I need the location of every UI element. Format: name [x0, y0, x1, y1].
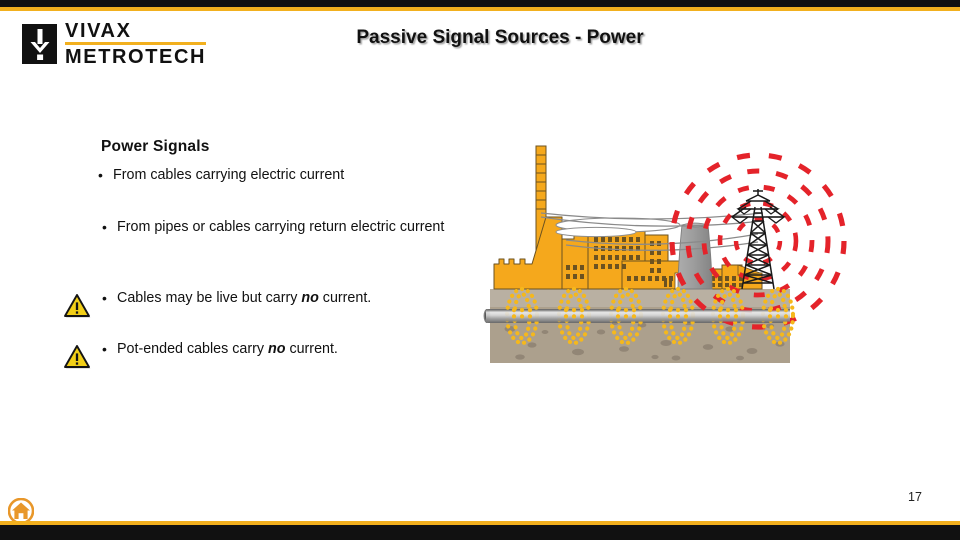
bottom-black-bar [0, 525, 960, 540]
top-accent-line [0, 7, 960, 11]
logo-mark [22, 24, 57, 64]
bullet-text: From pipes or cables carrying return ele… [117, 218, 452, 237]
bullet-marker: • [102, 289, 117, 308]
bullet-text-pre: Cables may be live but carry [117, 290, 301, 306]
power-station [494, 146, 762, 289]
top-black-bar [0, 0, 960, 7]
bullet-text-post: current. [319, 290, 371, 306]
bullet-marker: • [102, 340, 117, 359]
canopy-lower [556, 227, 636, 236]
slide-root: VIVAX METROTECH Passive Signal Sources -… [0, 0, 960, 540]
bullet-text-emphasis: no [301, 290, 318, 306]
page-title: Passive Signal Sources - Power [310, 27, 690, 49]
bullet-marker: • [98, 166, 113, 185]
bullet-text: Pot-ended cables carry no current. [117, 340, 452, 359]
list-item: • Pot-ended cables carry no current. [102, 340, 452, 359]
plant-left-hall [494, 217, 562, 289]
bullet-text-pre: Pot-ended cables carry [117, 341, 268, 357]
page-number: 17 [900, 490, 930, 504]
list-item: • From pipes or cables carrying return e… [102, 218, 452, 237]
warning-icon [63, 293, 91, 318]
bullet-text-emphasis: no [268, 341, 285, 357]
brand-logo: VIVAX METROTECH [22, 21, 206, 67]
bullet-text-post: current. [285, 341, 337, 357]
logo-wordmark: VIVAX METROTECH [65, 21, 206, 67]
bullet-text: Cables may be live but carry no current. [117, 289, 452, 308]
warning-icon [63, 344, 91, 369]
list-item: • Cables may be live but carry no curren… [102, 289, 452, 308]
list-item: • From cables carrying electric current [98, 166, 458, 185]
power-plant-illustration [470, 133, 850, 373]
logo-accent-rule [65, 42, 206, 45]
logo-line-2: METROTECH [65, 47, 206, 67]
section-heading: Power Signals [101, 138, 210, 156]
down-arrow-icon [28, 29, 51, 61]
bullet-text: From cables carrying electric current [113, 166, 458, 185]
bullet-marker: • [102, 218, 117, 237]
logo-line-1: VIVAX [65, 21, 206, 41]
